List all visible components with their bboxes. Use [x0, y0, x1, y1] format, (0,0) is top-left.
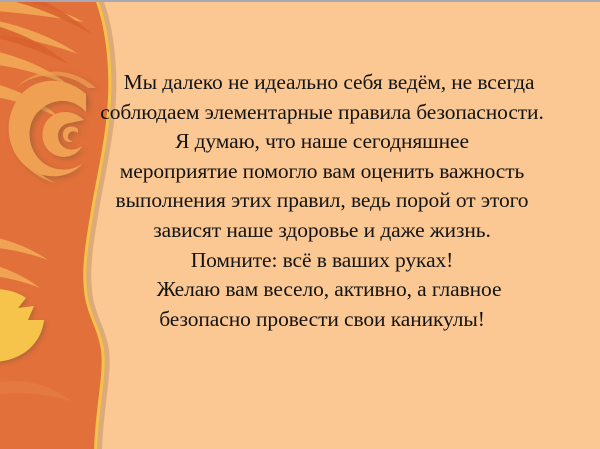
body-line-9: безопасно провести свои каникулы! — [60, 305, 584, 335]
body-line-4: мероприятие помогло вам оценить важность — [60, 157, 584, 187]
body-line-8: Желаю вам весело, активно, а главное — [60, 275, 584, 305]
body-line-5: выполнения этих правил, ведь порой от эт… — [60, 186, 584, 216]
flame-streaks-dark — [0, 2, 92, 64]
gold-blob — [0, 288, 44, 362]
slide-canvas: Мы далеко не идеально себя ведём, не все… — [0, 0, 600, 449]
slide-body-text: Мы далеко не идеально себя ведём, не все… — [60, 68, 584, 334]
body-line-6: зависят наше здоровье и даже жизнь. — [60, 216, 584, 246]
band-bottom-wash — [0, 381, 72, 402]
body-line-1: Мы далеко не идеально себя ведём, не все… — [60, 68, 584, 98]
body-line-7: Помните: всё в ваших руках! — [60, 246, 584, 276]
body-line-3: Я думаю, что наше сегодняшнее — [60, 127, 584, 157]
body-line-2: соблюдаем элементарные правила безопасно… — [60, 98, 584, 128]
